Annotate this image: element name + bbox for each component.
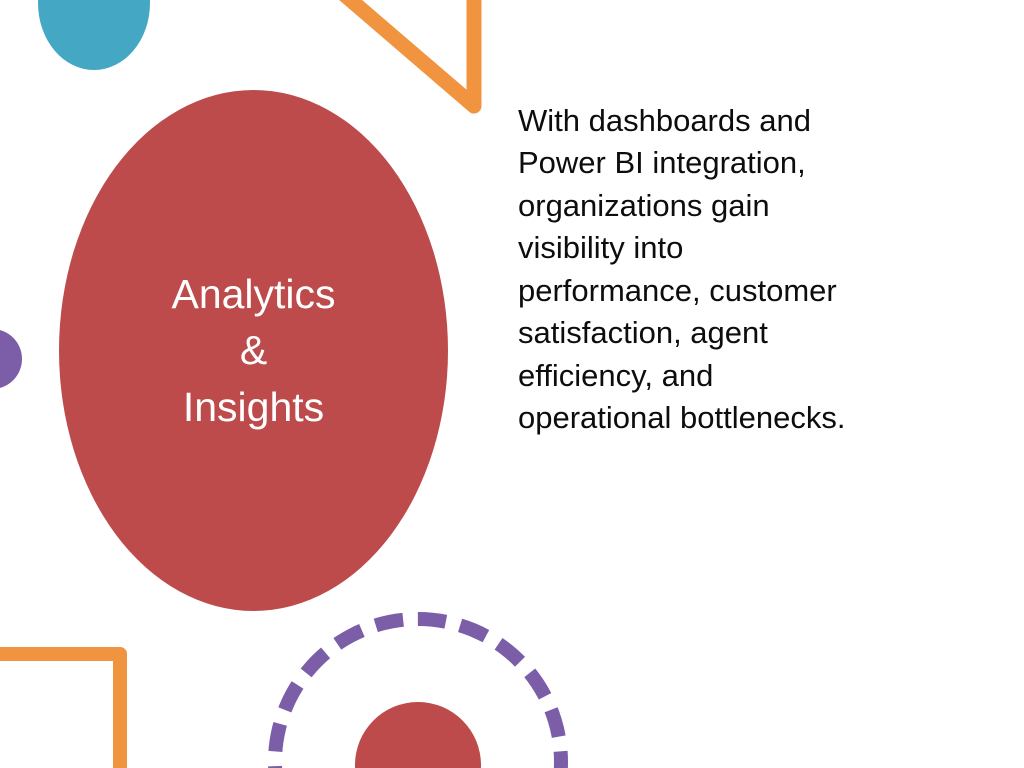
body-paragraph: With dashboards and Power BI integration… — [518, 100, 958, 440]
orange-rectangle-outline-decoration — [0, 640, 150, 768]
purple-dot-decoration — [0, 329, 22, 389]
body-line-4: visibility into — [518, 227, 958, 269]
body-line-2: Power BI integration, — [518, 142, 958, 184]
body-line-3: organizations gain — [518, 185, 958, 227]
teal-circle-decoration — [38, 0, 150, 70]
callout-line-3: Insights — [183, 379, 324, 436]
orange-triangle-outline-decoration — [318, 0, 508, 120]
slide-canvas: Analytics & Insights With dashboards and… — [0, 0, 1024, 768]
body-line-6: satisfaction, agent — [518, 312, 958, 354]
body-line-7: efficiency, and — [518, 355, 958, 397]
body-line-8: operational bottlenecks. — [518, 397, 958, 439]
analytics-insights-callout: Analytics & Insights — [59, 90, 448, 611]
body-line-5: performance, customer — [518, 270, 958, 312]
callout-line-2: & — [240, 322, 267, 379]
callout-line-1: Analytics — [171, 266, 335, 323]
body-line-1: With dashboards and — [518, 100, 958, 142]
